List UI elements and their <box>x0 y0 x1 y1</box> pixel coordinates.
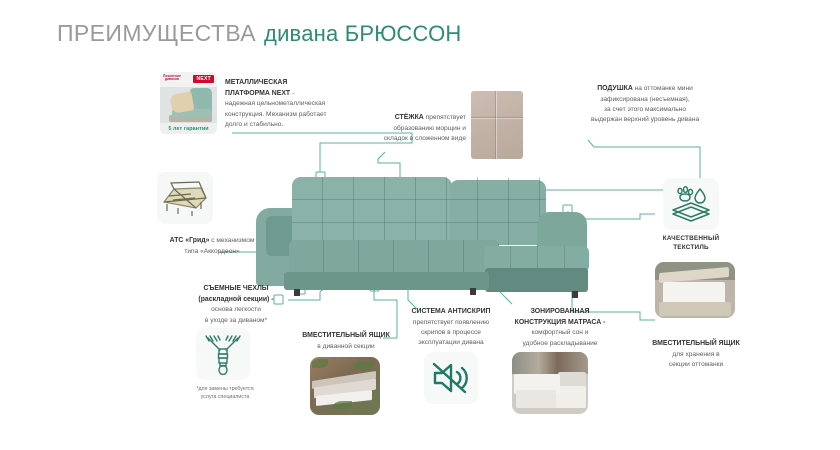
page-title: ПРЕИМУЩЕСТВАдивана БРЮССОН <box>57 20 462 47</box>
feature-anti-squeak-text: СИСТЕМА АНТИСКРИП препятствует появлению… <box>398 307 504 348</box>
feature-platform-next-title: МЕТАЛЛИЧЕСКАЯ <box>225 79 287 86</box>
feature-ottoman-drawer-photo <box>655 262 735 318</box>
feature-quilting-title: СТЁЖКА <box>395 114 424 121</box>
feature-sofa-drawer-text: ВМЕСТИТЕЛЬНЫЙ ЯЩИК в диванной секции <box>296 331 396 352</box>
zipper-icon <box>203 333 243 375</box>
feature-sofa-drawer-photo <box>310 357 380 415</box>
feature-platform-next-media: Поколениедиванов NEXT 5 лет гарантии <box>160 72 217 134</box>
feature-textile-label: КАЧЕСТВЕННЫЙ ТЕКСТИЛЬ <box>655 234 727 253</box>
warranty-label: 5 лет гарантии <box>160 123 217 134</box>
feature-sofa-drawer-title: ВМЕСТИТЕЛЬНЫЙ ЯЩИК <box>302 332 390 339</box>
feature-ottoman-drawer-text: ВМЕСТИТЕЛЬНЫЙ ЯЩИК для хранения в секции… <box>637 339 755 370</box>
feature-mattress-text: ЗОНИРОВАННАЯ КОНСТРУКЦИЯ МАТРАСА - комфо… <box>502 307 618 349</box>
feature-anti-squeak-tile <box>424 352 478 404</box>
feature-covers-title: СЪЕМНЫЕ ЧЕХЛЫ <box>203 285 268 292</box>
feature-pillow-text: ПОДУШКА на оттоманке мини зафиксирована … <box>572 84 718 125</box>
feature-ats-grid-title: АТС «Грид» <box>170 237 210 244</box>
armchair-illustration <box>164 88 213 121</box>
feature-ottoman-drawer-title: ВМЕСТИТЕЛЬНЫЙ ЯЩИК <box>652 340 740 347</box>
feature-covers-footnote: *для замены требуется услуга специалиста <box>186 386 264 401</box>
feature-mattress-title: ЗОНИРОВАННАЯ <box>531 308 590 315</box>
feature-ats-grid-text: АТС «Грид» с механизмом типа «Аккордеон» <box>150 236 274 257</box>
feature-quilting-text: СТЁЖКА препятствует образованию морщин и… <box>378 113 466 144</box>
feature-textile-tile <box>663 178 719 230</box>
feature-mattress-photo <box>512 352 588 414</box>
page-title-secondary: дивана БРЮССОН <box>264 21 461 46</box>
feature-anti-squeak-title: СИСТЕМА АНТИСКРИП <box>412 308 491 315</box>
feature-ats-grid-photo <box>157 172 213 224</box>
next-logo-badge: NEXT <box>193 75 214 83</box>
page-title-primary: ПРЕИМУЩЕСТВА <box>57 20 256 46</box>
infographic-page: ПРЕИМУЩЕСТВАдивана БРЮССОН <box>0 0 840 450</box>
feature-pillow-title: ПОДУШКА <box>597 85 633 92</box>
next-badge-text: Поколениедиванов <box>163 75 181 82</box>
feature-platform-next-text: МЕТАЛЛИЧЕСКАЯ ПЛАТФОРМА NEXT - надежная … <box>225 78 355 130</box>
metal-frame-illustration <box>161 178 209 218</box>
feature-quilting-swatch <box>471 91 523 159</box>
feature-covers-tile <box>196 328 250 380</box>
muted-speaker-icon <box>431 361 471 395</box>
feature-covers-text: СЪЕМНЫЕ ЧЕХЛЫ (раскладной секции) - осно… <box>178 284 294 326</box>
paw-waterdrop-fabric-icon <box>669 185 713 223</box>
product-sofa-image <box>256 168 606 298</box>
